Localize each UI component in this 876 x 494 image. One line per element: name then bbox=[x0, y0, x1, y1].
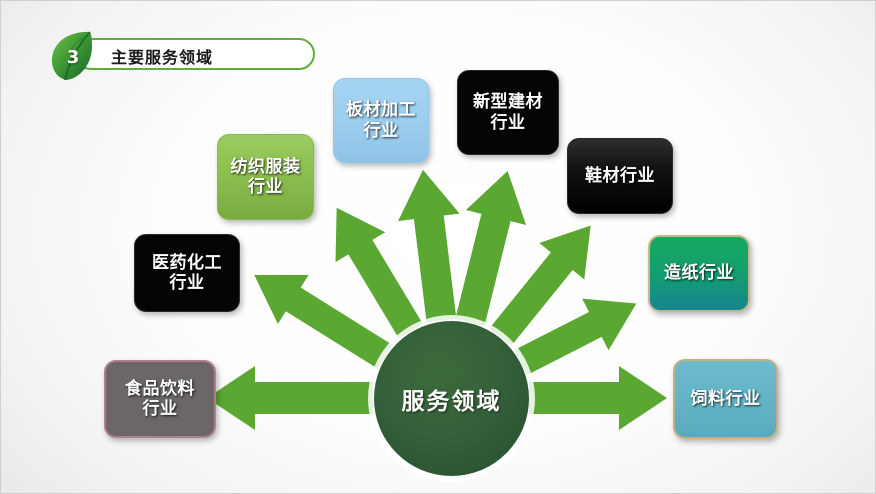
hub-circle[interactable]: 服务领域 bbox=[374, 321, 529, 476]
node-pharma-chemical[interactable]: 医药化工 行业 bbox=[134, 234, 240, 312]
node-panel-processing-label: 板材加工 行业 bbox=[340, 100, 422, 141]
node-shoe-materials[interactable]: 鞋材行业 bbox=[567, 138, 673, 214]
node-textile-apparel-label: 纺织服装 行业 bbox=[225, 157, 307, 198]
node-new-building-materials-label: 新型建材 行业 bbox=[467, 92, 549, 133]
node-new-building-materials[interactable]: 新型建材 行业 bbox=[457, 70, 559, 155]
node-shoe-materials-label: 鞋材行业 bbox=[579, 166, 661, 186]
node-food-beverage[interactable]: 食品饮料 行业 bbox=[104, 360, 216, 438]
node-pharma-chemical-label: 医药化工 行业 bbox=[146, 253, 228, 294]
hub-label: 服务领域 bbox=[402, 382, 502, 416]
node-panel-processing[interactable]: 板材加工 行业 bbox=[333, 78, 429, 163]
node-food-beverage-label: 食品饮料 行业 bbox=[119, 379, 201, 420]
arrow-to-food-beverage bbox=[207, 366, 373, 430]
slide-canvas: 3 主要服务领域 bbox=[0, 0, 876, 494]
node-textile-apparel[interactable]: 纺织服装 行业 bbox=[217, 134, 314, 220]
node-feed[interactable]: 饲料行业 bbox=[673, 359, 778, 439]
arrow-to-feed bbox=[529, 366, 667, 430]
node-feed-label: 饲料行业 bbox=[685, 389, 767, 409]
node-paper[interactable]: 造纸行业 bbox=[648, 235, 750, 312]
node-paper-label: 造纸行业 bbox=[658, 263, 740, 283]
